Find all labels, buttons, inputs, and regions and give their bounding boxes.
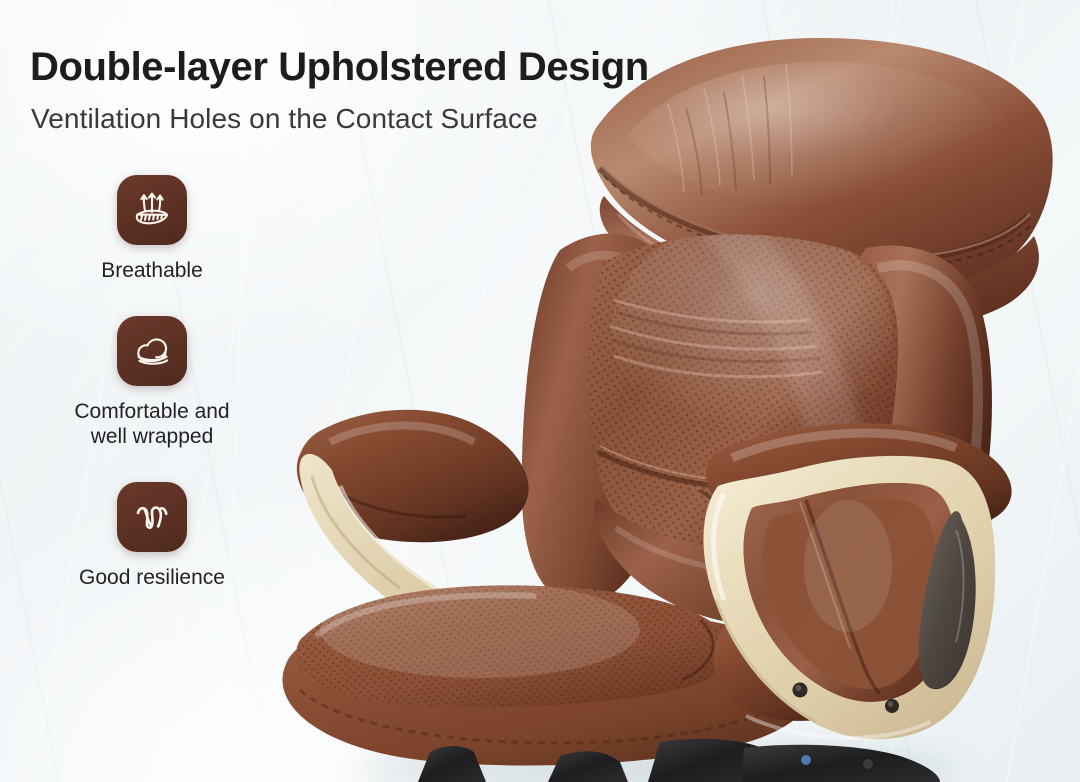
feature-list: Breathable Comfortable and well wrapped	[32, 175, 272, 590]
chair-headrest	[591, 38, 1053, 331]
chair-armrest-left	[297, 410, 582, 688]
spring-coil-icon	[117, 482, 187, 552]
feature-item-breathable: Breathable	[32, 175, 272, 284]
feature-label-resilience: Good resilience	[32, 565, 272, 591]
product-feature-banner: Double-layer Upholstered Design Ventilat…	[0, 0, 1080, 782]
feature-item-comfortable: Comfortable and well wrapped	[32, 316, 272, 450]
chair-seat	[270, 570, 888, 765]
cushion-cloud-icon	[117, 316, 187, 386]
feature-label-comfortable: Comfortable and well wrapped	[32, 399, 272, 450]
feature-item-resilience: Good resilience	[32, 482, 272, 591]
breathable-airflow-icon	[117, 175, 187, 245]
chair-armrest-right	[700, 423, 1012, 739]
chair-backrest	[522, 210, 992, 630]
feature-label-breathable: Breathable	[32, 258, 272, 284]
chair-base	[418, 739, 940, 782]
page-title: Double-layer Upholstered Design	[30, 45, 649, 90]
page-subtitle: Ventilation Holes on the Contact Surface	[31, 103, 538, 135]
